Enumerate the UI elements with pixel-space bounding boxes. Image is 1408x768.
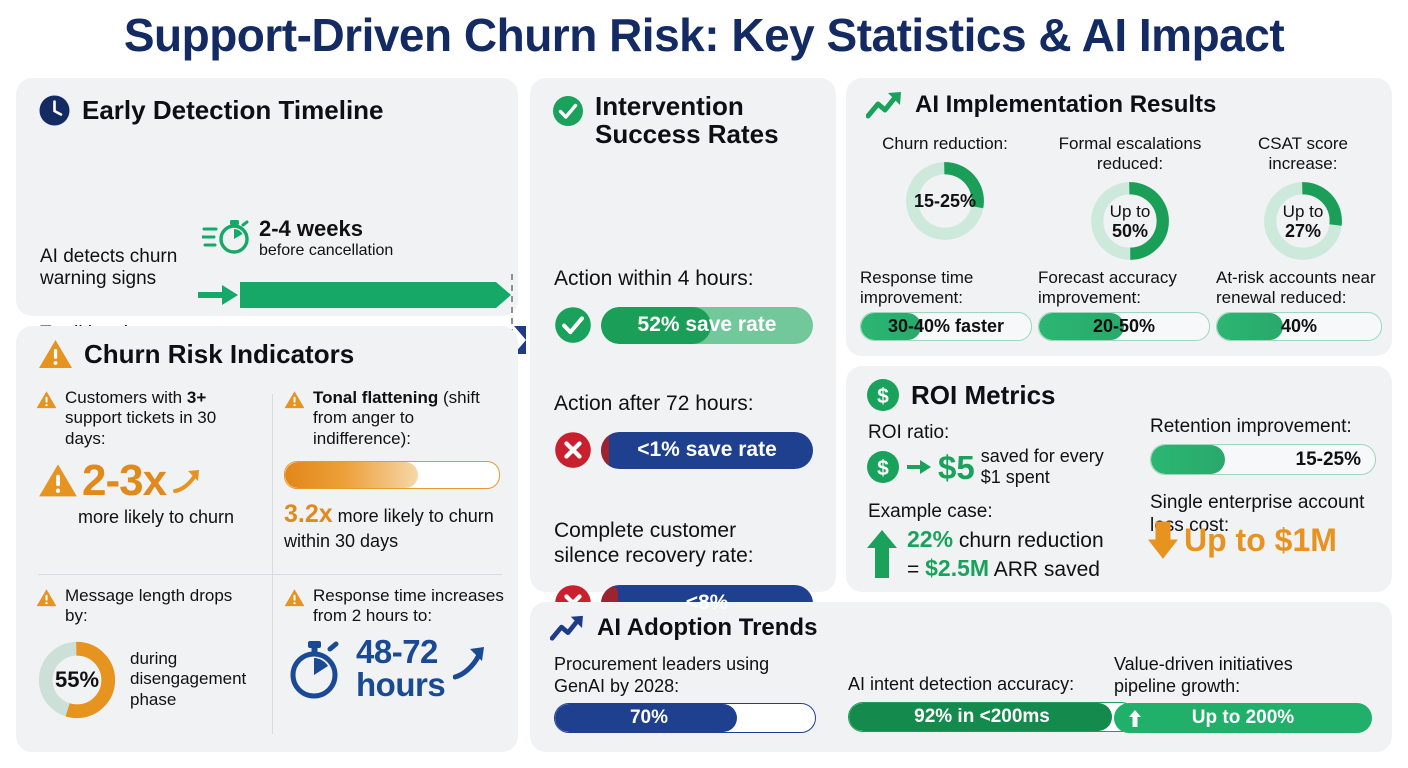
churn-indicator-2-text: Tonal flattening (shift from anger to in… bbox=[313, 388, 506, 449]
intervention-row-2-label: Action after 72 hours: bbox=[554, 391, 754, 416]
arrow-up-icon bbox=[1128, 710, 1142, 727]
panel-ai-results: AI Implementation Results Churn reductio… bbox=[846, 78, 1392, 356]
roi-loss-value: Up to $1M bbox=[1184, 524, 1337, 556]
intervention-row-1-value: 52% save rate bbox=[638, 313, 777, 337]
ai-donut-3-caption: CSAT scoreincrease: bbox=[1228, 134, 1378, 174]
intervention-row-2-value: <1% save rate bbox=[637, 438, 777, 462]
ai-donut-1-caption: Churn reduction: bbox=[860, 134, 1030, 154]
adoption-header: AI Adoption Trends bbox=[550, 614, 817, 642]
adoption-bar-3-track: Up to 200% bbox=[1114, 703, 1372, 733]
ai-bar-3-track: 40% bbox=[1216, 312, 1382, 341]
adoption-bar-2-caption: AI intent detection accuracy: bbox=[848, 674, 1136, 696]
intervention-row-1-label: Action within 4 hours: bbox=[554, 266, 754, 291]
check-circle-icon bbox=[552, 95, 584, 127]
dollar-circle-icon: $ bbox=[866, 378, 900, 412]
panel-churn-risk: Churn Risk Indicators Customers with 3+ … bbox=[16, 326, 518, 752]
arrow-up-right-icon bbox=[172, 466, 202, 496]
close-circle-icon bbox=[554, 431, 592, 469]
warning-triangle-icon bbox=[284, 390, 305, 410]
churn-indicator-2-sub: 3.2x more likely to churn within 30 days bbox=[284, 499, 506, 553]
intervention-row-3-value: <8% bbox=[686, 591, 729, 615]
adoption-bar-2-value: 92% in <200ms bbox=[849, 706, 1135, 728]
weeks-value: 2-4 weeks bbox=[259, 218, 363, 240]
tonal-flattening-fill bbox=[285, 462, 418, 488]
arrow-down-icon bbox=[1148, 520, 1178, 560]
warning-triangle-icon bbox=[36, 390, 57, 410]
ai-bar-3-value: 40% bbox=[1217, 316, 1381, 337]
arrow-up-icon bbox=[866, 528, 898, 580]
panel-adoption: AI Adoption Trends Procurement leaders u… bbox=[530, 602, 1392, 752]
ai-results-title: AI Implementation Results bbox=[915, 92, 1216, 118]
adoption-bar-1-track: 70% bbox=[554, 703, 816, 733]
roi-retention-bar: 15-25% bbox=[1150, 444, 1376, 475]
ai-bar-1-value: 30-40% faster bbox=[861, 316, 1031, 337]
trend-up-navy-icon bbox=[550, 614, 586, 642]
panel-roi: $ ROI Metrics ROI ratio: $ $5 saved for … bbox=[846, 366, 1392, 592]
page-title: Support-Driven Churn Risk: Key Statistic… bbox=[0, 8, 1408, 62]
ai-results-header: AI Implementation Results bbox=[866, 90, 1216, 120]
ai-donut-2: Formal escalationsreduced: Up to 50% bbox=[1038, 134, 1222, 264]
roi-ratio-label: ROI ratio: bbox=[868, 422, 949, 445]
ai-donut-1-value: 15-25% bbox=[914, 191, 976, 211]
roi-example-row: 22% churn reduction = $2.5M ARR saved bbox=[866, 525, 1104, 584]
intervention-row-2: <1% save rate bbox=[554, 431, 813, 469]
tonal-flattening-bar bbox=[284, 461, 500, 489]
intervention-header: InterventionSuccess Rates bbox=[552, 92, 779, 148]
ai-bar-2-track: 20-50% bbox=[1038, 312, 1210, 341]
ai-donut-2-caption: Formal escalationsreduced: bbox=[1038, 134, 1222, 174]
svg-text:$: $ bbox=[877, 385, 889, 408]
message-length-value: 55% bbox=[55, 667, 99, 693]
ai-bar-1-caption: Response timeimprovement: bbox=[860, 268, 1032, 307]
warning-triangle-icon bbox=[36, 588, 57, 608]
clock-icon bbox=[38, 94, 71, 127]
panel-intervention: InterventionSuccess Rates Action within … bbox=[530, 78, 836, 592]
message-length-donut: 55% bbox=[36, 639, 118, 721]
ai-bar-2-value: 20-50% bbox=[1039, 316, 1209, 337]
roi-example-rest2: ARR saved bbox=[989, 558, 1100, 581]
adoption-title: AI Adoption Trends bbox=[597, 615, 817, 641]
vertical-divider bbox=[272, 394, 273, 734]
adoption-bar-2-track: 92% in <200ms bbox=[848, 702, 1136, 732]
intervention-row-2-fill bbox=[601, 432, 609, 469]
arrow-right-icon bbox=[906, 457, 932, 477]
ai-donut-3-value: 27% bbox=[1285, 221, 1321, 241]
ai-donut-1: Churn reduction: 15-25% bbox=[860, 134, 1030, 244]
adoption-bar-1-caption: Procurement leaders usingGenAI by 2028: bbox=[554, 654, 816, 697]
infographic-page: Support-Driven Churn Risk: Key Statistic… bbox=[0, 0, 1408, 768]
ai-bar-1: Response timeimprovement: 30-40% faster bbox=[860, 268, 1032, 341]
churn-risk-grid: Customers with 3+ support tickets in 30 … bbox=[36, 388, 500, 740]
horizontal-divider bbox=[38, 574, 502, 575]
roi-retention-label: Retention improvement: bbox=[1150, 416, 1352, 439]
churn-indicator-1-sub: more likely to churn bbox=[78, 507, 258, 529]
check-circle-icon bbox=[554, 306, 592, 344]
ai-bar-2-caption: Forecast accuracyimprovement: bbox=[1038, 268, 1210, 307]
churn-indicator-1-stat: 2-3x bbox=[38, 459, 258, 503]
intervention-row-2-bar: <1% save rate bbox=[601, 432, 813, 469]
warning-triangle-icon bbox=[38, 338, 73, 371]
roi-ratio-value: $5 bbox=[938, 451, 975, 484]
churn-risk-header: Churn Risk Indicators bbox=[38, 338, 354, 371]
early-detection-header: Early Detection Timeline bbox=[38, 94, 384, 127]
churn-indicator-2: Tonal flattening (shift from anger to in… bbox=[284, 388, 506, 553]
roi-retention-value: 15-25% bbox=[1151, 449, 1375, 471]
roi-example-arr: $2.5M bbox=[925, 555, 989, 581]
response-time-hours-row: 48-72hours bbox=[284, 635, 506, 702]
arrow-up-right-icon bbox=[453, 643, 487, 683]
churn-indicator-1-text: Customers with 3+ support tickets in 30 … bbox=[65, 388, 258, 449]
intervention-row-1-bar: 52% save rate bbox=[601, 307, 813, 344]
dollar-circle-icon: $ bbox=[866, 450, 900, 484]
churn-indicator-4-text: Response time increases from 2 hours to: bbox=[313, 586, 506, 627]
roi-example-label: Example case: bbox=[868, 501, 993, 524]
message-length-side-label: duringdisengagementphase bbox=[130, 649, 246, 711]
warning-triangle-icon bbox=[284, 588, 305, 608]
adoption-bar-1-value: 70% bbox=[555, 707, 815, 729]
panel-early-detection: Early Detection Timeline AI detects chur… bbox=[16, 78, 518, 316]
roi-example-text: 22% churn reduction = $2.5M ARR saved bbox=[907, 525, 1104, 584]
churn-indicator-4: Response time increases from 2 hours to:… bbox=[284, 586, 506, 702]
roi-header: $ ROI Metrics bbox=[866, 378, 1056, 412]
roi-example-pct: 22% bbox=[907, 526, 953, 552]
message-length-donut-row: 55% duringdisengagementphase bbox=[36, 639, 258, 721]
ai-bar-3: At-risk accounts nearrenewal reduced: 40… bbox=[1216, 268, 1382, 341]
trend-up-icon bbox=[866, 90, 904, 120]
adoption-bar-3-value: Up to 200% bbox=[1114, 707, 1372, 729]
churn-indicator-3: Message length drops by: 55% duringdisen… bbox=[36, 586, 258, 721]
early-detection-title: Early Detection Timeline bbox=[82, 96, 384, 124]
roi-ratio-row: $ $5 saved for every$1 spent bbox=[866, 446, 1104, 488]
intervention-row-3-label: Complete customersilence recovery rate: bbox=[554, 518, 754, 568]
intervention-title: InterventionSuccess Rates bbox=[595, 92, 779, 148]
warning-triangle-icon bbox=[38, 462, 78, 500]
churn-indicator-1-value: 2-3x bbox=[82, 459, 166, 503]
adoption-bar-1: Procurement leaders usingGenAI by 2028: … bbox=[554, 654, 816, 733]
ai-bar-2: Forecast accuracyimprovement: 20-50% bbox=[1038, 268, 1210, 341]
ai-bar-3-caption: At-risk accounts nearrenewal reduced: bbox=[1216, 268, 1382, 307]
intervention-row-1: 52% save rate bbox=[554, 306, 813, 344]
roi-loss-row: Up to $1M bbox=[1148, 520, 1337, 560]
ai-donut-3-prefix: Up to bbox=[1283, 202, 1324, 221]
churn-indicator-2-value: 3.2x bbox=[284, 500, 333, 528]
ai-donut-2-value: 50% bbox=[1112, 221, 1148, 241]
ai-donut-3: CSAT scoreincrease: Up to 27% bbox=[1228, 134, 1378, 264]
adoption-bar-3-caption: Value-driven initiativespipeline growth: bbox=[1114, 654, 1372, 697]
response-time-hours-value: 48-72hours bbox=[356, 635, 445, 702]
ai-donut-2-prefix: Up to bbox=[1110, 202, 1151, 221]
roi-example-rest1: churn reduction bbox=[953, 529, 1104, 552]
weeks-sub-label: before cancellation bbox=[259, 243, 393, 259]
svg-text:$: $ bbox=[877, 457, 889, 480]
roi-ratio-note: saved for every$1 spent bbox=[981, 446, 1104, 488]
stopwatch-green-icon bbox=[202, 217, 254, 257]
roi-example-eq: = bbox=[907, 558, 925, 581]
ai-detect-label: AI detects churnwarning signs bbox=[40, 246, 177, 291]
churn-risk-title: Churn Risk Indicators bbox=[84, 340, 354, 368]
ai-bar-1-track: 30-40% faster bbox=[860, 312, 1032, 341]
churn-indicator-1: Customers with 3+ support tickets in 30 … bbox=[36, 388, 258, 529]
churn-indicator-3-text: Message length drops by: bbox=[65, 586, 258, 627]
roi-title: ROI Metrics bbox=[911, 381, 1056, 409]
stopwatch-navy-icon bbox=[284, 635, 348, 701]
adoption-bar-3: Value-driven initiativespipeline growth:… bbox=[1114, 654, 1372, 733]
adoption-bar-2: AI intent detection accuracy: 92% in <20… bbox=[848, 674, 1136, 732]
